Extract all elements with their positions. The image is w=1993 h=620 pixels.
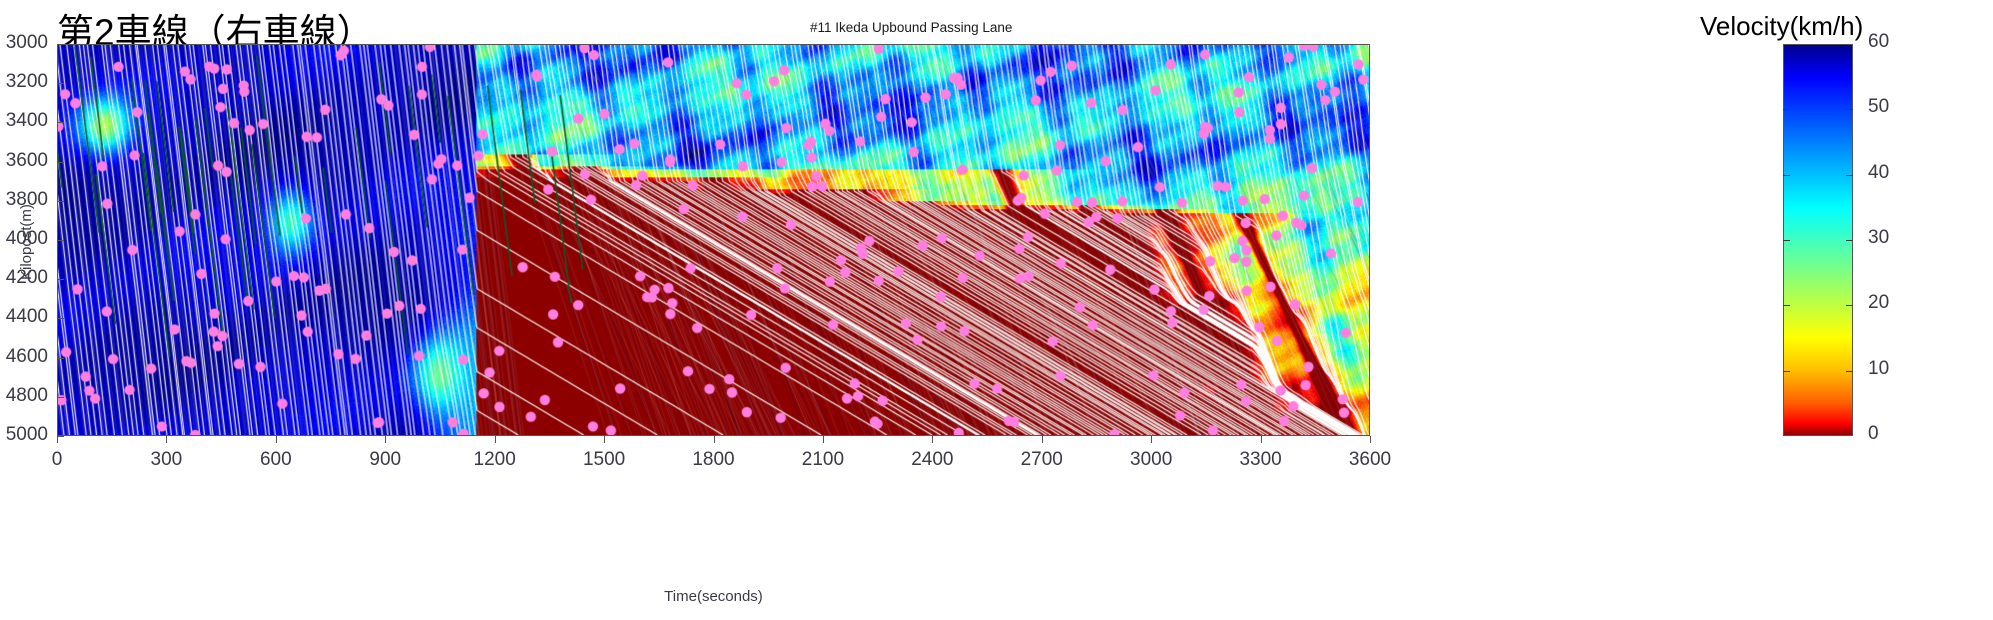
x-tick-label: 3300 [1221,449,1301,471]
y-tick-mark [57,318,64,319]
y-tick-mark [57,83,64,84]
x-tick-mark [276,436,277,443]
colorbar-tick-mark [1783,175,1790,176]
x-tick-mark [823,436,824,443]
colorbar-tick-mark [1846,305,1853,306]
y-tick-mark [57,201,64,202]
x-tick-label: 3600 [1330,449,1410,471]
x-tick-label: 2700 [1002,449,1082,471]
colorbar-tick-mark [1846,371,1853,372]
colorbar-tick-label: 60 [1868,31,1889,53]
y-tick-mark [57,44,64,45]
x-tick-label: 900 [345,449,425,471]
x-axis-label: Time(seconds) [0,588,1427,605]
y-tick-mark [57,240,64,241]
x-tick-mark [1370,436,1371,443]
colorbar-tick-label: 20 [1868,292,1889,314]
y-tick-mark [57,436,64,437]
y-tick-label: 4000 [0,228,48,250]
colorbar-tick-mark [1783,371,1790,372]
x-tick-mark [1042,436,1043,443]
colorbar-tick-mark [1783,240,1790,241]
colorbar-tick-label: 50 [1868,96,1889,118]
traffic-speed-contour-figure: 第2車線（右車線） #11 Ikeda Upbound Passing Lane… [0,0,1993,620]
x-tick-label: 300 [126,449,206,471]
x-tick-mark [385,436,386,443]
x-tick-label: 1200 [455,449,535,471]
colorbar-tick-label: 30 [1868,227,1889,249]
x-tick-label: 600 [236,449,316,471]
y-tick-label: 3000 [0,32,48,54]
y-tick-mark [57,122,64,123]
y-tick-label: 4200 [0,267,48,289]
x-tick-mark [57,436,58,443]
colorbar-tick-mark [1783,109,1790,110]
x-tick-mark [495,436,496,443]
x-tick-mark [714,436,715,443]
x-tick-mark [166,436,167,443]
y-tick-mark [57,358,64,359]
colorbar-title: Velocity(km/h) [1700,11,1863,42]
colorbar-tick-mark [1846,109,1853,110]
y-tick-label: 4800 [0,385,48,407]
x-tick-mark [1261,436,1262,443]
x-tick-label: 2400 [892,449,972,471]
y-tick-label: 3600 [0,150,48,172]
colorbar-tick-mark [1846,240,1853,241]
y-tick-label: 5000 [0,424,48,446]
x-tick-label: 3000 [1111,449,1191,471]
y-tick-label: 3800 [0,189,48,211]
y-tick-label: 4400 [0,306,48,328]
heatmap-plot-area[interactable] [57,44,1370,436]
x-tick-label: 2100 [783,449,863,471]
y-tick-label: 3200 [0,71,48,93]
figure-subtitle: #11 Ikeda Upbound Passing Lane [810,20,1012,35]
colorbar-tick-label: 40 [1868,162,1889,184]
y-tick-mark [57,279,64,280]
velocity-colorbar [1783,44,1853,436]
speed-heatmap-canvas [58,45,1369,435]
y-tick-mark [57,397,64,398]
colorbar-tick-label: 10 [1868,358,1889,380]
colorbar-tick-mark [1783,305,1790,306]
x-tick-label: 0 [17,449,97,471]
y-tick-label: 3400 [0,110,48,132]
y-tick-label: 4600 [0,346,48,368]
x-tick-mark [932,436,933,443]
x-tick-label: 1500 [564,449,644,471]
x-tick-mark [1151,436,1152,443]
colorbar-tick-mark [1846,175,1853,176]
y-tick-mark [57,162,64,163]
x-tick-label: 1800 [674,449,754,471]
colorbar-tick-label: 0 [1868,423,1879,445]
x-tick-mark [604,436,605,443]
